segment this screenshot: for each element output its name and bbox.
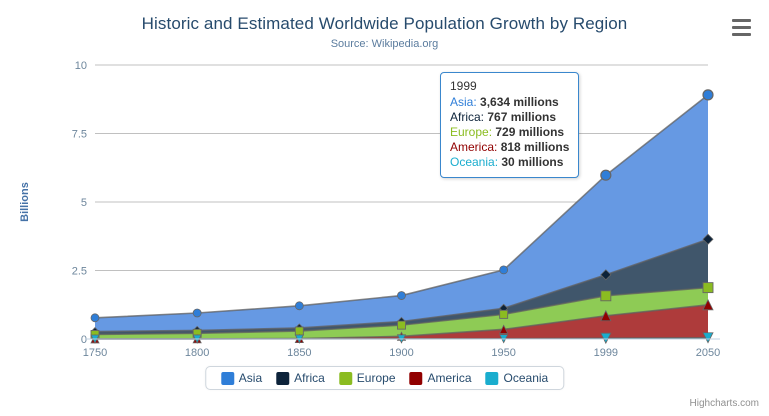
y-axis-tick-label: 0 (81, 334, 87, 346)
credits-link[interactable]: Highcharts.com (690, 398, 759, 409)
tooltip-series-value: 729 millions (495, 125, 564, 139)
legend-swatch-icon (486, 372, 499, 385)
marker-asia[interactable] (601, 170, 611, 180)
tooltip-rows: Asia: 3,634 millionsAfrica: 767 millions… (450, 95, 569, 170)
chart-container: Historic and Estimated Worldwide Populat… (0, 0, 769, 416)
tooltip-series-value: 818 millions (501, 140, 570, 154)
y-axis-title: Billions (19, 182, 31, 222)
marker-europe[interactable] (703, 283, 713, 293)
legend-item-label: Oceania (504, 371, 549, 385)
tooltip-row: Europe: 729 millions (450, 125, 569, 140)
legend-item-europe[interactable]: Europe (332, 371, 403, 385)
legend-item-oceania[interactable]: Oceania (479, 371, 556, 385)
chart-tooltip: 1999 Asia: 3,634 millionsAfrica: 767 mil… (440, 72, 579, 178)
tooltip-row: Africa: 767 millions (450, 110, 569, 125)
legend-item-america[interactable]: America (403, 371, 479, 385)
legend-item-asia[interactable]: Asia (214, 371, 269, 385)
y-axis-tick-label: 10 (75, 60, 87, 72)
marker-asia[interactable] (500, 266, 508, 274)
tooltip-series-value: 767 millions (487, 110, 556, 124)
x-axis-tick-label: 1750 (83, 347, 107, 359)
marker-asia[interactable] (193, 309, 201, 317)
x-axis-tick-label: 2050 (696, 347, 720, 359)
marker-europe[interactable] (398, 321, 406, 329)
tooltip-series-name: Asia: (450, 95, 480, 109)
legend-item-label: America (428, 371, 472, 385)
x-axis-tick-label: 1800 (185, 347, 209, 359)
x-axis-tick-label: 1900 (389, 347, 413, 359)
legend-item-label: Europe (357, 371, 396, 385)
legend-swatch-icon (410, 372, 423, 385)
tooltip-row: Asia: 3,634 millions (450, 95, 569, 110)
tooltip-series-name: Africa: (450, 110, 487, 124)
plot-area: 02.557.510Billions1750180018501900195019… (0, 0, 769, 416)
marker-asia[interactable] (398, 292, 406, 300)
marker-europe[interactable] (500, 310, 508, 318)
marker-europe[interactable] (601, 291, 611, 301)
marker-asia[interactable] (295, 302, 303, 310)
tooltip-row: America: 818 millions (450, 140, 569, 155)
legend-item-label: Asia (239, 371, 262, 385)
x-axis-tick-label: 1850 (287, 347, 311, 359)
tooltip-header: 1999 (450, 79, 569, 93)
tooltip-series-value: 3,634 millions (480, 95, 559, 109)
legend-item-label: Africa (294, 371, 325, 385)
y-axis-tick-label: 5 (81, 197, 87, 209)
tooltip-series-name: Oceania: (450, 155, 501, 169)
y-axis-tick-label: 2.5 (72, 266, 87, 278)
marker-asia[interactable] (91, 314, 99, 322)
marker-asia[interactable] (703, 90, 713, 100)
tooltip-series-name: America: (450, 140, 501, 154)
x-axis-tick-label: 1999 (594, 347, 618, 359)
legend-swatch-icon (339, 372, 352, 385)
tooltip-series-name: Europe: (450, 125, 495, 139)
legend-swatch-icon (221, 372, 234, 385)
tooltip-series-value: 30 millions (501, 155, 563, 169)
legend-item-africa[interactable]: Africa (269, 371, 332, 385)
x-axis-tick-label: 1950 (491, 347, 515, 359)
legend-swatch-icon (276, 372, 289, 385)
chart-legend[interactable]: AsiaAfricaEuropeAmericaOceania (205, 366, 564, 390)
y-axis-tick-label: 7.5 (72, 129, 87, 141)
tooltip-row: Oceania: 30 millions (450, 155, 569, 170)
